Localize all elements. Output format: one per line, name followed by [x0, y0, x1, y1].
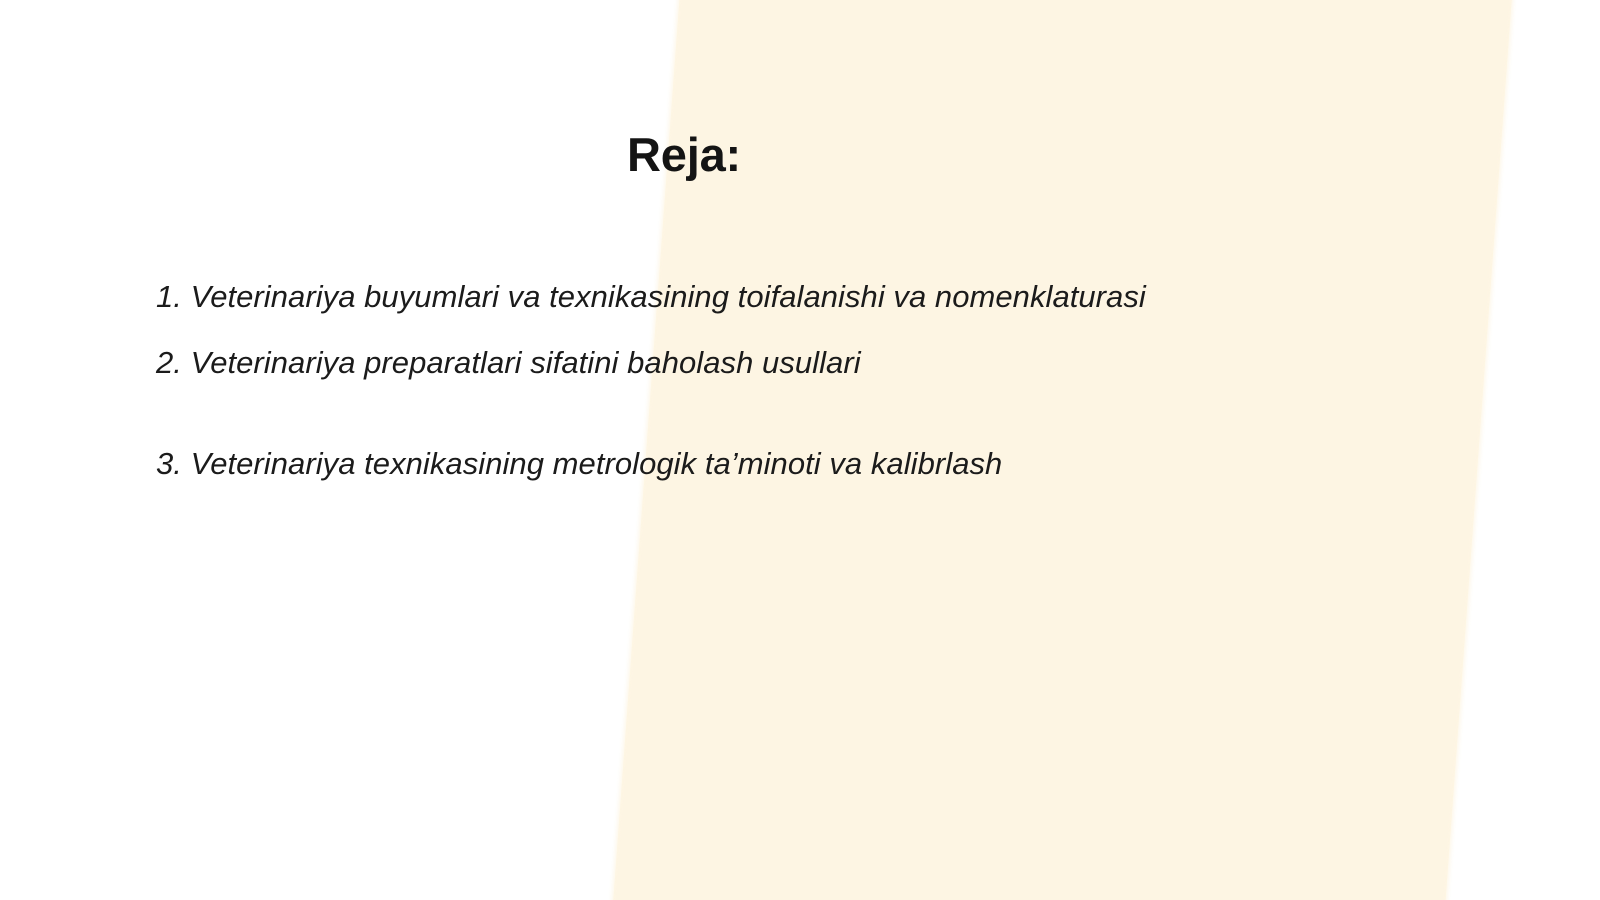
plan-list: 1. Veterinariya buyumlari va texnikasini… [156, 276, 1146, 485]
list-item: 1. Veterinariya buyumlari va texnikasini… [156, 276, 1146, 317]
presentation-slide: Reja: 1. Veterinariya buyumlari va texni… [0, 0, 1600, 900]
page-title: Reja: [0, 129, 1368, 182]
slide-content: Reja: 1. Veterinariya buyumlari va texni… [0, 0, 1600, 900]
list-item: 3. Veterinariya texnikasining metrologik… [156, 443, 1146, 484]
list-item: 2. Veterinariya preparatlari sifatini ba… [156, 342, 1146, 383]
